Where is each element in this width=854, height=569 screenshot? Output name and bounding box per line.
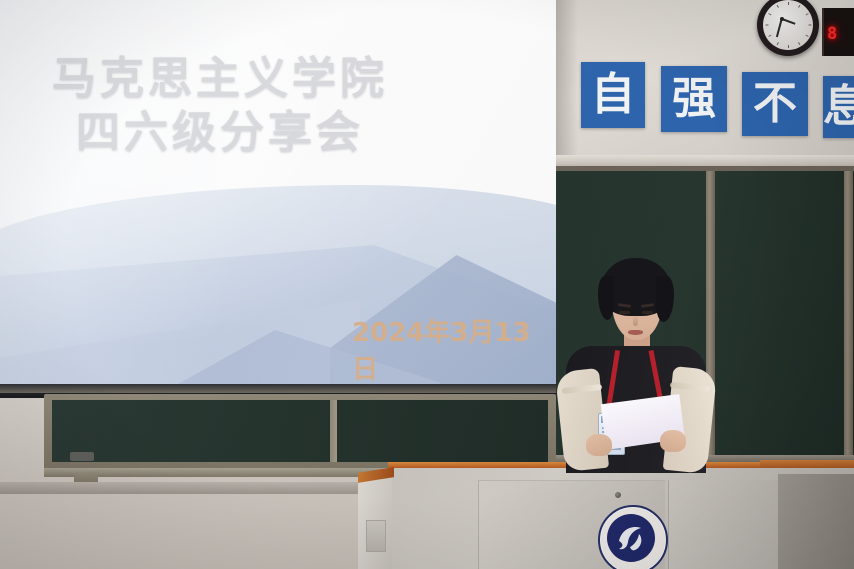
lectern-screw [615, 492, 621, 498]
speaker-mouth [628, 330, 643, 335]
slide-title: 马克思主义学院 四六级分享会 [0, 52, 440, 159]
lectern-right-shadow [778, 474, 854, 569]
podium-side-slot [366, 520, 386, 552]
screen-bottom-seam [0, 384, 556, 393]
speaker-hair-right [656, 276, 674, 322]
chalkboard-left-panel [52, 400, 548, 462]
wall-placard-1-char: 自 [591, 73, 635, 117]
lectern-side-panel [668, 480, 779, 569]
slide-title-line-2: 四六级分享会 [0, 106, 440, 160]
led-digits: 8 [827, 24, 838, 44]
speaker-hair-left [598, 276, 614, 320]
speaker-hand-right [660, 430, 686, 452]
wall-placard-4-char: 息 [823, 85, 854, 129]
speaker-hand-left [586, 434, 612, 456]
wall-placard-2: 强 [661, 66, 727, 132]
speaker-eye-left [619, 311, 630, 314]
university-seal-emblem [598, 505, 668, 569]
classroom-photo-scene: 自 强 不 息 8 [0, 0, 854, 569]
speaker-nose [633, 315, 638, 326]
chalkboard-divider-2 [844, 171, 853, 471]
wall-placard-1: 自 [581, 62, 645, 128]
speaker-person [560, 258, 710, 473]
wall-placard-3: 不 [742, 72, 808, 136]
speaker-eye-right [642, 311, 653, 314]
slide-title-line-1: 马克思主义学院 [0, 52, 440, 106]
emblem-bird-icon [614, 521, 648, 555]
wall-placard-3-char: 不 [753, 82, 797, 126]
clock-ticks [763, 0, 813, 50]
chalkboard-left-divider [330, 400, 337, 462]
front-desk-rail [0, 482, 420, 494]
clock-center-pin [780, 17, 784, 21]
chalk-eraser [70, 452, 94, 461]
slide-date: 2024年3月13日 [352, 312, 556, 386]
led-clock-display: 8 [822, 8, 854, 56]
wall-placard-4: 息 [823, 76, 854, 138]
wall-placard-2-char: 强 [672, 77, 716, 121]
projection-screen: 马克思主义学院 四六级分享会 2024年3月13日 [0, 0, 556, 400]
